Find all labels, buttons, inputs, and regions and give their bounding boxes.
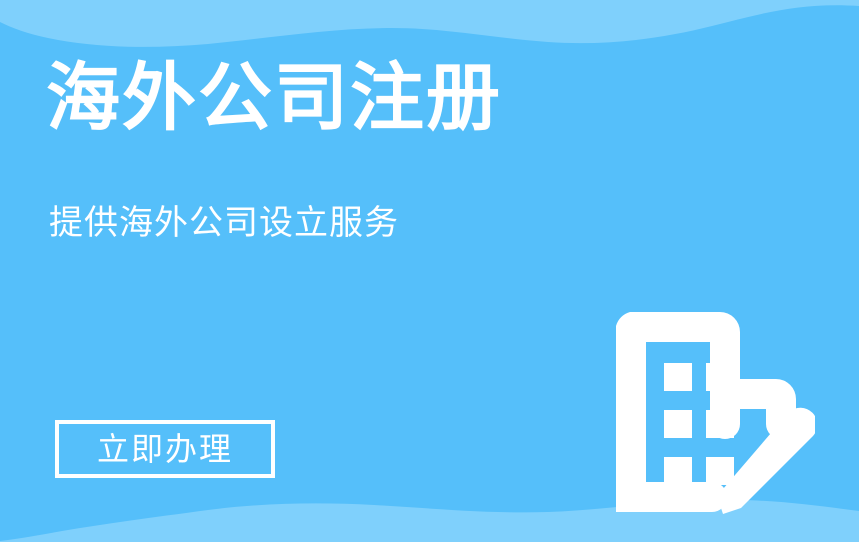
building-window-grid-icon — [664, 363, 734, 485]
overseas-company-registration-banner: 海外公司注册 提供海外公司设立服务 立即办理 — [0, 0, 859, 542]
apply-now-button-label: 立即办理 — [97, 433, 233, 465]
apply-now-button[interactable]: 立即办理 — [55, 420, 275, 478]
page-subtitle: 提供海外公司设立服务 — [49, 206, 399, 240]
page-title: 海外公司注册 — [46, 61, 502, 135]
banner-content: 海外公司注册 提供海外公司设立服务 立即办理 — [0, 0, 859, 542]
building-register-pencil-icon — [610, 306, 815, 518]
